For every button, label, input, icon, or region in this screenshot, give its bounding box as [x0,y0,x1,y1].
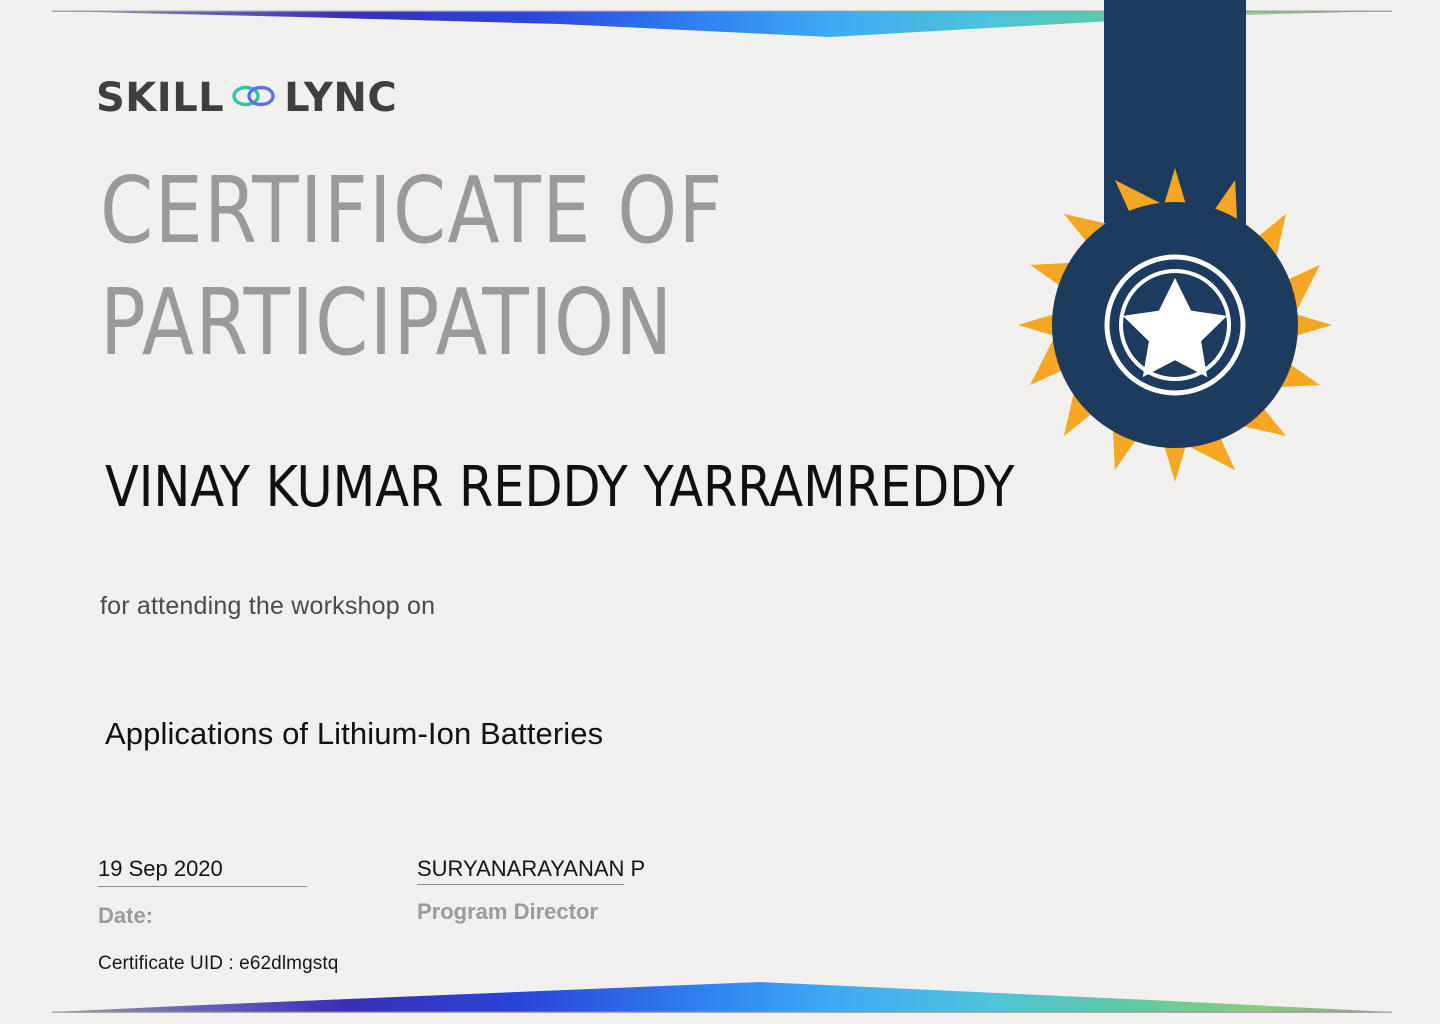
director-label: Program Director [417,899,817,925]
logo-word-skill: SKILL [96,78,224,118]
certificate-title-line-1: CERTIFICATE OF [100,155,818,267]
certificate-page: SKILL LYNC CERTIFICATE OF PARTICIPATION … [0,0,1440,1024]
certificate-title: CERTIFICATE OF PARTICIPATION [100,155,880,379]
date-column: 19 Sep 2020 Date: [98,855,398,929]
certificate-title-line-2: PARTICIPATION [100,267,818,379]
certificate-uid: Certificate UID : e62dlmgstq [98,953,338,975]
date-label: Date: [98,903,398,929]
date-value-row: 19 Sep 2020 [98,855,398,887]
chain-link-icon [228,81,280,116]
brand-logo: SKILL LYNC [96,74,397,122]
logo-word-lync: LYNC [284,78,397,118]
director-column: SURYANARAYANAN P Program Director [417,855,817,925]
director-name: SURYANARAYANAN [417,856,624,885]
attendance-subtitle: for attending the workshop on [100,592,435,621]
date-value: 19 Sep 2020 [98,855,307,887]
recipient-name: VINAY KUMAR REDDY YARRAMREDDY [105,455,1014,520]
director-name-row: SURYANARAYANAN P [417,855,817,883]
award-medal-badge [1010,160,1340,490]
course-title: Applications of Lithium-Ion Batteries [105,716,603,752]
director-name-suffix: P [624,856,645,881]
